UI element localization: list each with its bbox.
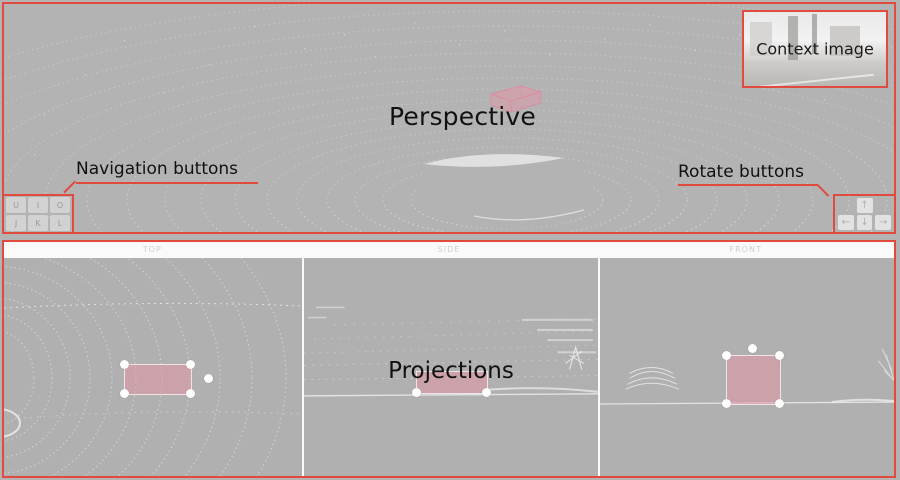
nav-key-l[interactable]: L xyxy=(50,215,70,231)
navigation-row-top: U I O xyxy=(6,197,70,213)
nav-key-o[interactable]: O xyxy=(50,197,70,213)
front-handle-se[interactable] xyxy=(775,399,784,408)
top-view-bounding-box[interactable] xyxy=(124,364,192,395)
front-view-bounding-box[interactable] xyxy=(726,355,781,405)
navigation-row-bottom: J K L xyxy=(6,215,70,231)
nav-key-k[interactable]: K xyxy=(28,215,48,231)
rotate-right-icon[interactable]: → xyxy=(875,215,891,230)
projections-panel: TOP SIDE FRONT xyxy=(2,240,896,478)
lidar-annotation-tool: Perspective Context image Navigation but… xyxy=(0,0,900,480)
projection-header-front: FRONT xyxy=(597,242,894,258)
annotation-projections: Projections xyxy=(388,358,514,384)
rotate-row-top: ↑ xyxy=(838,198,891,213)
rotate-up-icon[interactable]: ↑ xyxy=(857,198,873,213)
projection-header-top: TOP xyxy=(4,242,301,258)
top-handle-ne[interactable] xyxy=(186,360,195,369)
front-handle-sw[interactable] xyxy=(722,399,731,408)
rotate-buttons-group[interactable]: ↑ ← ↓ → xyxy=(833,194,896,234)
front-handle-ne[interactable] xyxy=(775,351,784,360)
rotate-down-icon[interactable]: ↓ xyxy=(857,215,873,230)
side-handle-se[interactable] xyxy=(482,388,491,397)
top-handle-se[interactable] xyxy=(186,389,195,398)
nav-key-u[interactable]: U xyxy=(6,197,26,213)
annotation-rotate-underline xyxy=(678,184,818,186)
context-road xyxy=(744,60,886,86)
perspective-panel[interactable]: Perspective Context image xyxy=(2,2,896,234)
projection-view-top[interactable] xyxy=(4,258,302,478)
front-handle-top-center[interactable] xyxy=(748,344,757,353)
projection-view-side[interactable]: Projections xyxy=(302,258,600,478)
perspective-label: Perspective xyxy=(389,102,536,131)
rotate-row-bottom: ← ↓ → xyxy=(838,215,891,230)
rotate-left-icon[interactable]: ← xyxy=(838,215,854,230)
navigation-buttons-group[interactable]: U I O J K L xyxy=(2,194,74,234)
projection-view-front[interactable] xyxy=(600,258,894,478)
context-image-panel[interactable]: Context image xyxy=(742,10,888,88)
projection-headers: TOP SIDE FRONT xyxy=(4,242,894,258)
nav-key-j[interactable]: J xyxy=(6,215,26,231)
annotation-rotate-buttons: Rotate buttons xyxy=(678,162,804,182)
top-handle-heading[interactable] xyxy=(204,374,213,383)
annotation-navigation-underline xyxy=(76,182,258,184)
annotation-navigation-buttons: Navigation buttons xyxy=(76,159,238,179)
top-handle-nw[interactable] xyxy=(120,360,129,369)
nav-key-i[interactable]: I xyxy=(28,197,48,213)
side-handle-sw[interactable] xyxy=(412,388,421,397)
projection-header-side: SIDE xyxy=(301,242,598,258)
top-handle-sw[interactable] xyxy=(120,389,129,398)
projection-columns: Projections xyxy=(4,258,894,478)
context-image-caption: Context image xyxy=(744,40,886,59)
front-handle-nw[interactable] xyxy=(722,351,731,360)
